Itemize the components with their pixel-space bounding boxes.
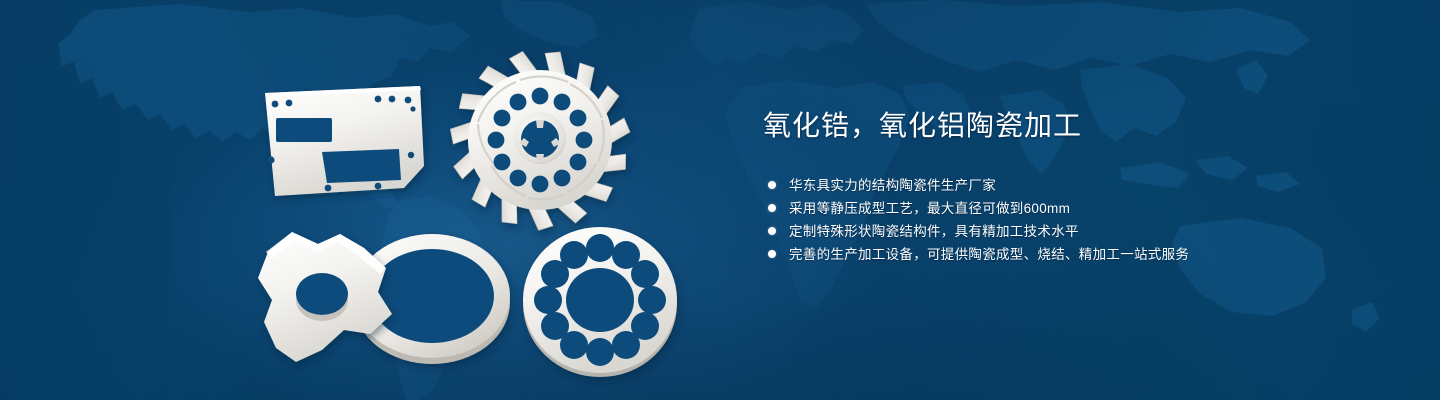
- banner-copy: 氧化锆，氧化铝陶瓷加工 华东具实力的结构陶瓷件生产厂家 采用等静压成型工艺，最大…: [763, 108, 1403, 266]
- feature-text: 完善的生产加工设备，可提供陶瓷成型、烧结、精加工一站式服务: [789, 243, 1189, 266]
- bullet-dot-icon: [768, 250, 776, 258]
- bullet-dot-icon: [768, 204, 776, 212]
- list-item: 完善的生产加工设备，可提供陶瓷成型、烧结、精加工一站式服务: [763, 243, 1403, 266]
- bullet-dot-icon: [768, 181, 776, 189]
- banner-headline: 氧化锆，氧化铝陶瓷加工: [763, 108, 1403, 145]
- list-item: 采用等静压成型工艺，最大直径可做到600mm: [763, 197, 1403, 220]
- feature-text: 采用等静压成型工艺，最大直径可做到600mm: [789, 197, 1070, 220]
- hero-banner: 氧化锆，氧化铝陶瓷加工 华东具实力的结构陶瓷件生产厂家 采用等静压成型工艺，最大…: [0, 0, 1440, 400]
- bullet-dot-icon: [768, 227, 776, 235]
- feature-text: 华东具实力的结构陶瓷件生产厂家: [789, 174, 996, 197]
- list-item: 华东具实力的结构陶瓷件生产厂家: [763, 174, 1403, 197]
- list-item: 定制特殊形状陶瓷结构件，具有精加工技术水平: [763, 220, 1403, 243]
- banner-feature-list: 华东具实力的结构陶瓷件生产厂家 采用等静压成型工艺，最大直径可做到600mm 定…: [763, 174, 1403, 266]
- feature-text: 定制特殊形状陶瓷结构件，具有精加工技术水平: [789, 220, 1079, 243]
